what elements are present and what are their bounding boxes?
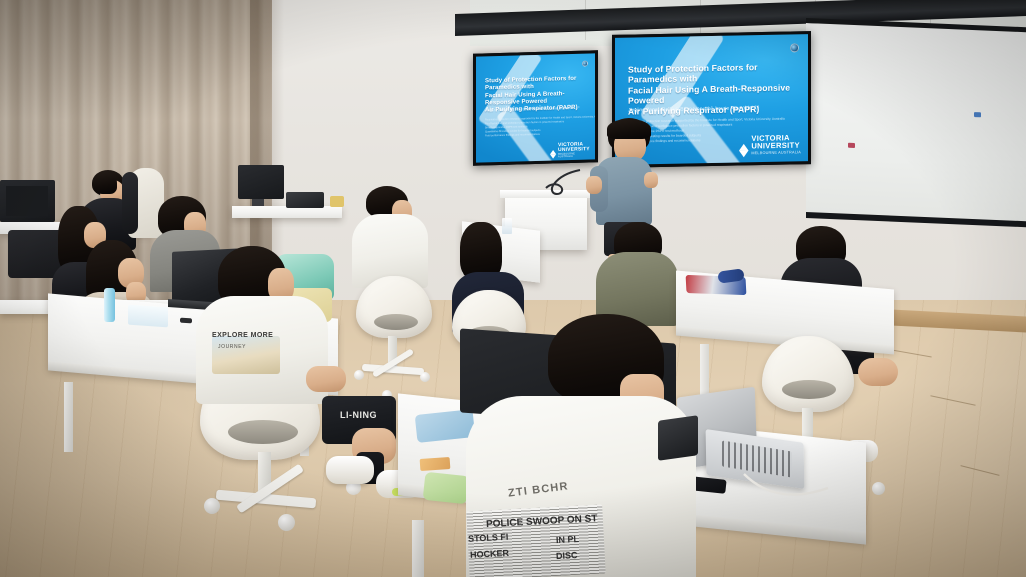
chair-caster [278, 514, 295, 531]
monitor-left-screen [6, 186, 48, 216]
left-display[interactable]: Study of Protection Factors for Paramedi… [473, 50, 598, 165]
chair-center-a-hole [374, 314, 418, 330]
monitor-right-back [238, 165, 284, 199]
victoria-university-logo: VICTORIA UNIVERSITY MELBOURNE AUSTRALIA [550, 141, 590, 158]
presenter-hair-front [607, 119, 651, 139]
right-desk-leg [700, 344, 709, 400]
chair-caster [872, 482, 885, 495]
tablet[interactable] [658, 415, 698, 461]
classroom-photo: Study of Protection Factors for Paramedi… [0, 0, 1026, 577]
chair-right-hole [782, 380, 836, 399]
victoria-university-logo: VICTORIA UNIVERSITY MELBOURNE AUSTRALIA [739, 134, 801, 155]
chair-front-left-hole [228, 420, 298, 444]
left-slide-bullets: Respiratory protection research supporte… [485, 115, 595, 137]
slide-corner-dot [582, 61, 588, 67]
li-ning-text: LI-NING [340, 410, 380, 420]
presenter-hand-left [586, 176, 602, 194]
equipment-box [286, 192, 324, 208]
student-front-explore-arm [306, 366, 346, 392]
water-glass [502, 218, 512, 234]
yellow-item [330, 196, 344, 207]
orange-item [420, 457, 451, 471]
front-desk-leg [412, 520, 424, 577]
vu-diamond-icon [550, 147, 556, 155]
slide-corner-dot [790, 43, 799, 52]
explore-more-text: EXPLORE MORE [212, 332, 286, 339]
presenter-hand-right [644, 172, 658, 188]
student-front-explore-shoe [326, 456, 374, 484]
water-bottle [104, 288, 115, 322]
chair-caster [420, 372, 430, 382]
chair-strap [122, 172, 138, 234]
whiteboard-magnet [848, 143, 855, 148]
vu-diamond-icon [739, 140, 749, 152]
whiteboard [806, 18, 1026, 227]
student-back-left-hair-front [93, 172, 117, 194]
phone-left [180, 318, 192, 324]
left-slide: Study of Protection Factors for Paramedi… [476, 53, 595, 162]
left-desk-leg [64, 382, 73, 452]
cable-right [742, 470, 832, 510]
tissue-box [128, 305, 168, 328]
explore-more-subtext: JOURNEY [218, 344, 278, 350]
green-cloth [423, 472, 470, 504]
chair-caster [204, 498, 220, 514]
microphone-icon [540, 168, 582, 198]
whiteboard-magnet [974, 112, 981, 117]
student-right-black-leg [858, 358, 898, 386]
chair-caster [354, 370, 364, 380]
explore-more-graphic [212, 336, 280, 374]
